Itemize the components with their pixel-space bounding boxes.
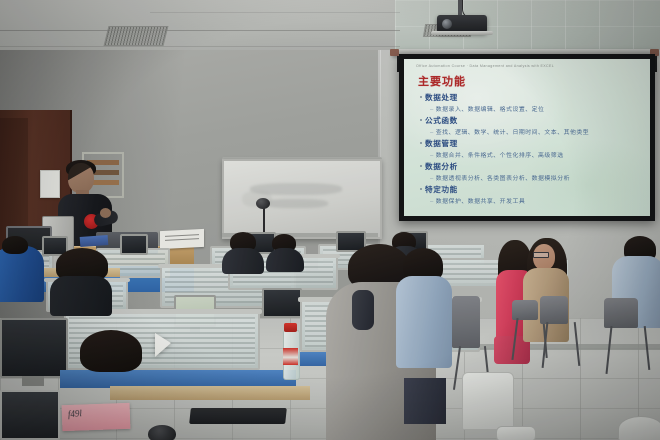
desk-surface-front	[110, 386, 310, 400]
slide-detail-label: 数据保护、数据共享、开发工具	[436, 199, 525, 205]
ceiling-seam	[0, 30, 400, 31]
slide-title: 主要功能	[418, 73, 466, 89]
presenter-head	[68, 163, 94, 193]
white-stool[interactable]	[618, 416, 660, 440]
dash-icon: –	[430, 176, 434, 182]
dash-icon: –	[430, 130, 434, 136]
slide-block-detail: –数据保护、数据共享、开发工具	[430, 196, 644, 205]
slide-block: 公式函数 –查找、逻辑、数学、统计、日期时间、文本、其他类型	[420, 115, 644, 136]
slide-block-heading: 数据处理	[420, 92, 644, 103]
slide-heading-label: 数据处理	[425, 92, 458, 103]
slide-block-detail: –查找、逻辑、数学、统计、日期时间、文本、其他类型	[430, 127, 644, 136]
slide-block-heading: 数据管理	[420, 138, 644, 149]
bullet-dot-icon	[420, 188, 422, 190]
dash-icon: –	[430, 153, 434, 159]
slide-detail-label: 数据合并、条件格式、个性化排序、高级筛选	[436, 153, 564, 159]
slide-block-heading: 特定功能	[420, 184, 644, 195]
attendee-collar	[352, 290, 374, 330]
keyboard[interactable]	[189, 408, 287, 424]
slide-heading-label: 数据分析	[425, 161, 458, 172]
screen-roller-cap	[390, 49, 399, 56]
slide-block-heading: 数据分析	[420, 161, 644, 172]
ceiling-seam	[150, 12, 400, 13]
lab-monitor-front	[0, 318, 68, 378]
presenter-hand	[100, 208, 111, 218]
classroom-photo: Office Automation Course · Data Manageme…	[0, 0, 660, 440]
slide-block-detail: –数据录入、数据编辑、格式设置、定位	[430, 104, 644, 113]
slide-heading-label: 特定功能	[425, 184, 458, 195]
projection-screen: Office Automation Course · Data Manageme…	[399, 54, 655, 221]
ceiling-vent	[104, 26, 169, 46]
slide-block-detail: –数据合并、条件格式、个性化排序、高级筛选	[430, 150, 644, 159]
slide-block: 数据管理 –数据合并、条件格式、个性化排序、高级筛选	[420, 138, 644, 159]
slide-block: 数据分析 –数据透视表分析、各类图表分析、数据模拟分析	[420, 161, 644, 182]
bullet-dot-icon	[420, 119, 422, 121]
dash-icon: –	[430, 199, 434, 205]
lab-monitor	[262, 288, 302, 318]
slide-heading-label: 公式函数	[425, 115, 458, 126]
white-chair[interactable]	[462, 372, 514, 430]
slide-detail-label: 数据透视表分析、各类图表分析、数据模拟分析	[436, 176, 570, 182]
water-bottle-cap	[284, 323, 297, 332]
glasses-icon	[533, 252, 549, 258]
bullet-dot-icon	[420, 142, 422, 144]
white-chair-seat[interactable]	[496, 426, 536, 440]
microphone-icon	[256, 198, 270, 209]
slide-block-detail: –数据透视表分析、各类图表分析、数据模拟分析	[430, 173, 644, 182]
folded-paper-card	[155, 333, 171, 357]
wall-notice-paper	[40, 170, 60, 198]
desk-label: f49l	[62, 403, 131, 431]
slide-heading-label: 数据管理	[425, 138, 458, 149]
monitor-stand	[22, 376, 44, 386]
projector-lens-icon	[442, 19, 452, 29]
projector-mount-plate	[431, 31, 493, 35]
attendee-lower-body	[404, 378, 446, 424]
slide-body: 数据处理 –数据录入、数据编辑、格式设置、定位 公式函数 –查找、逻辑、数学、统…	[420, 92, 644, 207]
slide-block: 特定功能 –数据保护、数据共享、开发工具	[420, 184, 644, 205]
bullet-dot-icon	[420, 165, 422, 167]
whiteboard[interactable]	[222, 159, 382, 239]
slide-block-heading: 公式函数	[420, 115, 644, 126]
desk-label-text: f49l	[67, 408, 82, 419]
slide-block: 数据处理 –数据录入、数据编辑、格式设置、定位	[420, 92, 644, 113]
podium-paper	[160, 229, 204, 249]
lab-monitor	[120, 234, 148, 255]
slide-header-text: Office Automation Course · Data Manageme…	[416, 64, 642, 68]
podium-notebook	[80, 235, 109, 247]
projected-slide: Office Automation Course · Data Manageme…	[404, 59, 650, 216]
slide-detail-label: 查找、逻辑、数学、统计、日期时间、文本、其他类型	[436, 130, 589, 136]
dash-icon: –	[430, 107, 434, 113]
ceiling-seam	[0, 46, 400, 47]
lab-monitor-foreground	[0, 390, 60, 440]
water-bottle-label	[283, 348, 298, 365]
mouse[interactable]	[148, 425, 176, 440]
slide-detail-label: 数据录入、数据编辑、格式设置、定位	[436, 107, 545, 113]
bullet-dot-icon	[420, 96, 422, 98]
